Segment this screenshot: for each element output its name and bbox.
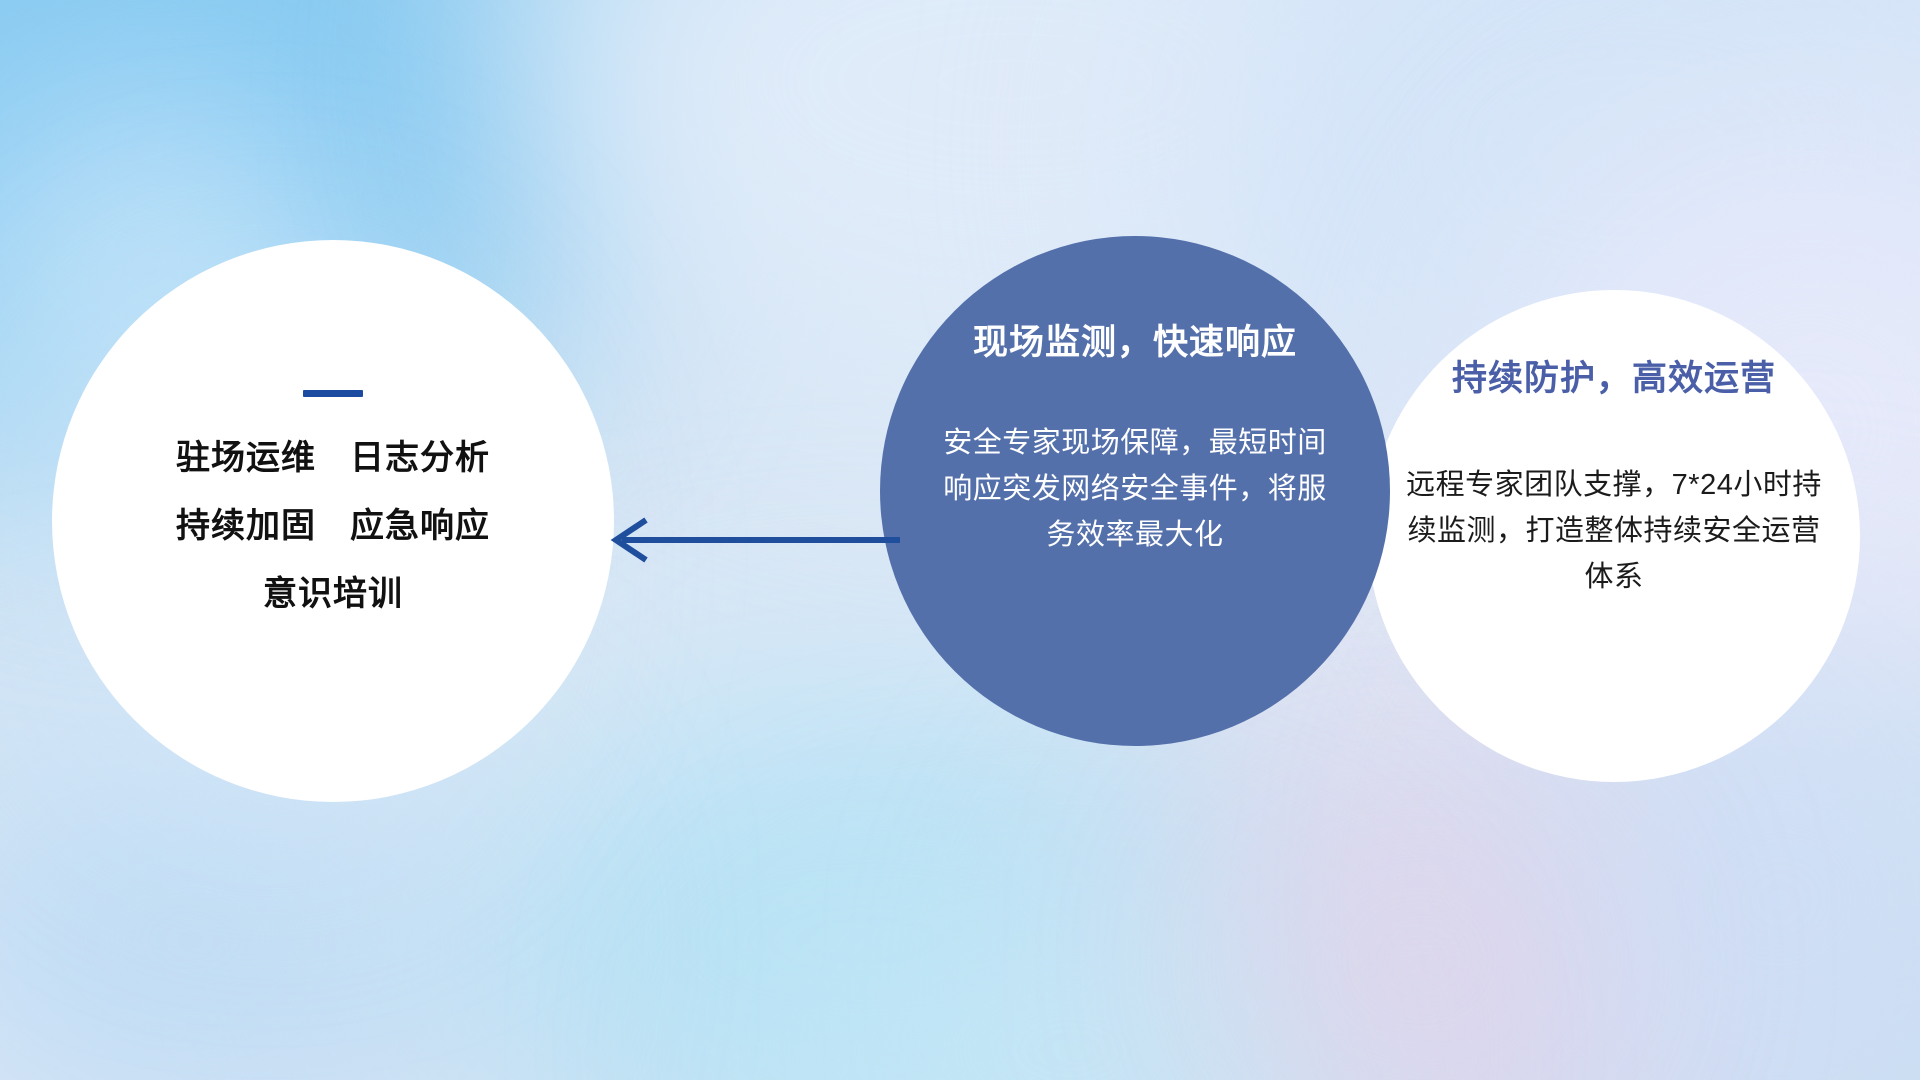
keyword-row-2: 持续加固 应急响应 [176, 509, 490, 543]
keyword-item: 持续加固 [176, 509, 316, 543]
middle-feature-circle: 现场监测，快速响应 安全专家现场保障，最短时间响应突发网络安全事件，将服务效率最… [880, 236, 1390, 746]
keyword-item: 日志分析 [350, 441, 490, 475]
keyword-item: 应急响应 [350, 509, 490, 543]
right-circle-body: 远程专家团队支撑，7*24小时持续监测，打造整体持续安全运营体系 [1399, 463, 1829, 600]
flow-arrow-icon [600, 508, 900, 572]
keyword-item: 意识培训 [263, 577, 403, 611]
right-circle-title: 持续防护，高效运营 [1452, 350, 1776, 401]
slide-canvas: 驻场运维 日志分析 持续加固 应急响应 意识培训 持续防护，高效运营 远程专家团… [0, 0, 1920, 1080]
middle-circle-title: 现场监测，快速响应 [973, 314, 1297, 365]
keyword-row-1: 驻场运维 日志分析 [176, 441, 490, 475]
left-summary-circle: 驻场运维 日志分析 持续加固 应急响应 意识培训 [52, 240, 614, 802]
keyword-item: 驻场运维 [176, 441, 316, 475]
middle-circle-body: 安全专家现场保障，最短时间响应突发网络安全事件，将服务效率最大化 [935, 421, 1335, 558]
keyword-row-3: 意识培训 [263, 577, 403, 611]
accent-dash-divider [303, 390, 363, 397]
right-feature-circle: 持续防护，高效运营 远程专家团队支撑，7*24小时持续监测，打造整体持续安全运营… [1368, 290, 1860, 782]
left-circle-content: 驻场运维 日志分析 持续加固 应急响应 意识培训 [52, 390, 614, 611]
